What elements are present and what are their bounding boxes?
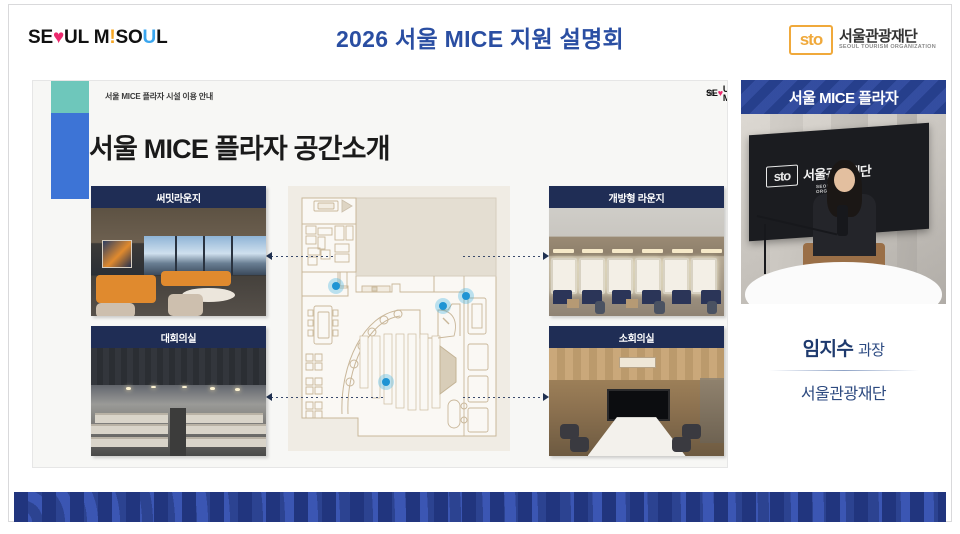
speaker-name: 임지수	[803, 339, 854, 360]
slide-accent-teal	[51, 81, 89, 113]
slide-accent-blue	[51, 113, 89, 199]
stage: 서울 MICE 플라자 시설 이용 안내 SE♥UL M! SOUL 95 서울…	[14, 80, 946, 468]
card-label: 개방형 라운지	[549, 186, 724, 208]
microphone-icon	[837, 205, 847, 235]
speaker-organization: 서울관광재단	[741, 380, 946, 404]
footer-pattern	[14, 492, 946, 522]
slide-corner-logo: SE♥UL M! SOUL	[706, 85, 728, 103]
logo-part-ulm: UL M	[723, 85, 728, 103]
photo-summit-lounge	[91, 208, 266, 316]
speaker-role: 과장	[858, 342, 884, 359]
connector-bottom-right	[463, 397, 545, 398]
card-label: 써밋라운지	[91, 186, 266, 208]
photo-small-meeting	[549, 348, 724, 456]
floorplan	[288, 186, 510, 451]
speaker-panel: 서울 MICE 플라자 sto 서울관광재단 SEOUL TOURISM ORG…	[741, 80, 946, 468]
slide-top-right: SE♥UL M! SOUL 95	[706, 89, 715, 98]
card-conference-hall[interactable]: 대회의실	[91, 326, 266, 456]
slide-heading: 서울 MICE 플라자 공간소개	[89, 127, 390, 166]
card-label: 대회의실	[91, 326, 266, 348]
photo-open-lounge	[549, 208, 724, 316]
photo-conference-hall	[91, 348, 266, 456]
speaker-name-line: 임지수 과장	[741, 334, 946, 361]
connector-top-right	[463, 256, 545, 257]
sto-mark-icon: sto	[789, 25, 833, 55]
card-open-lounge[interactable]: 개방형 라운지	[549, 186, 724, 316]
speaker-video[interactable]: sto 서울관광재단 SEOUL TOURISM ORGANIZATION	[741, 114, 946, 304]
sto-name-korean: 서울관광재단	[839, 29, 936, 45]
arrow-left-top	[266, 252, 272, 260]
footer-pattern-band	[14, 492, 946, 522]
floorplan-drawing	[288, 186, 510, 451]
speaker-banner-text: 서울 MICE 플라자	[789, 87, 898, 108]
connector-top-left	[271, 256, 333, 257]
sto-mark-icon: sto	[766, 165, 798, 188]
speaker-divider	[769, 370, 919, 371]
card-summit-lounge[interactable]: 써밋라운지	[91, 186, 266, 316]
slide-canvas: 서울 MICE 플라자 시설 이용 안내 SE♥UL M! SOUL 95 서울…	[32, 80, 728, 468]
card-small-meeting[interactable]: 소회의실	[549, 326, 724, 456]
connector-bottom-left	[271, 397, 386, 398]
slide-eyebrow: 서울 MICE 플라자 시설 이용 안내	[105, 91, 213, 102]
header-bar: SE♥UL M! SOUL 2026 서울 MICE 지원 설명회 sto 서울…	[10, 6, 950, 68]
arrow-left-bottom	[266, 393, 272, 401]
speaker-banner: 서울 MICE 플라자	[741, 80, 946, 114]
sto-name-english: SEOUL TOURISM ORGANIZATION	[839, 45, 936, 51]
sto-logo: sto 서울관광재단 SEOUL TOURISM ORGANIZATION	[789, 25, 936, 55]
card-label: 소회의실	[549, 326, 724, 348]
logo-part-se: SE	[706, 89, 718, 98]
presentation-screen: SE♥UL M! SOUL 2026 서울 MICE 지원 설명회 sto 서울…	[0, 0, 960, 534]
sto-logo-text: 서울관광재단 SEOUL TOURISM ORGANIZATION	[839, 29, 936, 51]
